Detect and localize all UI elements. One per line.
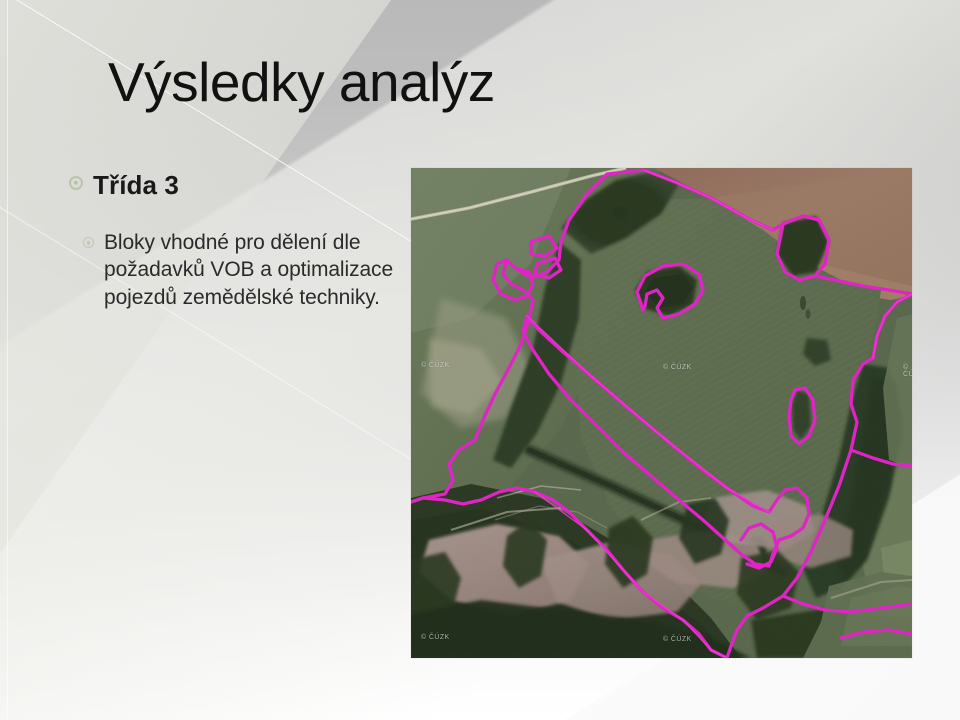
aerial-photo: © ČÚZK © ČÚZK © ČÚZK © ČÚZK © ČÚZK xyxy=(411,168,912,658)
target-ring-bullet-icon-small xyxy=(83,237,94,248)
slide-title: Výsledky analýz xyxy=(108,52,728,114)
bullet-item-level2: Bloky vhodné pro dělení dle požadavků VO… xyxy=(62,229,407,311)
bullet-label-trida-3: Třída 3 xyxy=(93,170,179,201)
slide-body-bullet-list: Třída 3 Bloky vhodné pro dělení dle poža… xyxy=(62,170,407,315)
presentation-slide: Výsledky analýz Třída 3 Bloky vhodné pro… xyxy=(0,0,960,720)
bullet-spacer xyxy=(62,205,407,229)
slide-background-left-edge-line xyxy=(7,0,8,720)
bullet-item-level1: Třída 3 xyxy=(62,170,407,201)
target-ring-bullet-icon xyxy=(69,176,83,190)
aerial-photo-canvas xyxy=(411,168,912,658)
bullet-label-description: Bloky vhodné pro dělení dle požadavků VO… xyxy=(104,229,407,311)
